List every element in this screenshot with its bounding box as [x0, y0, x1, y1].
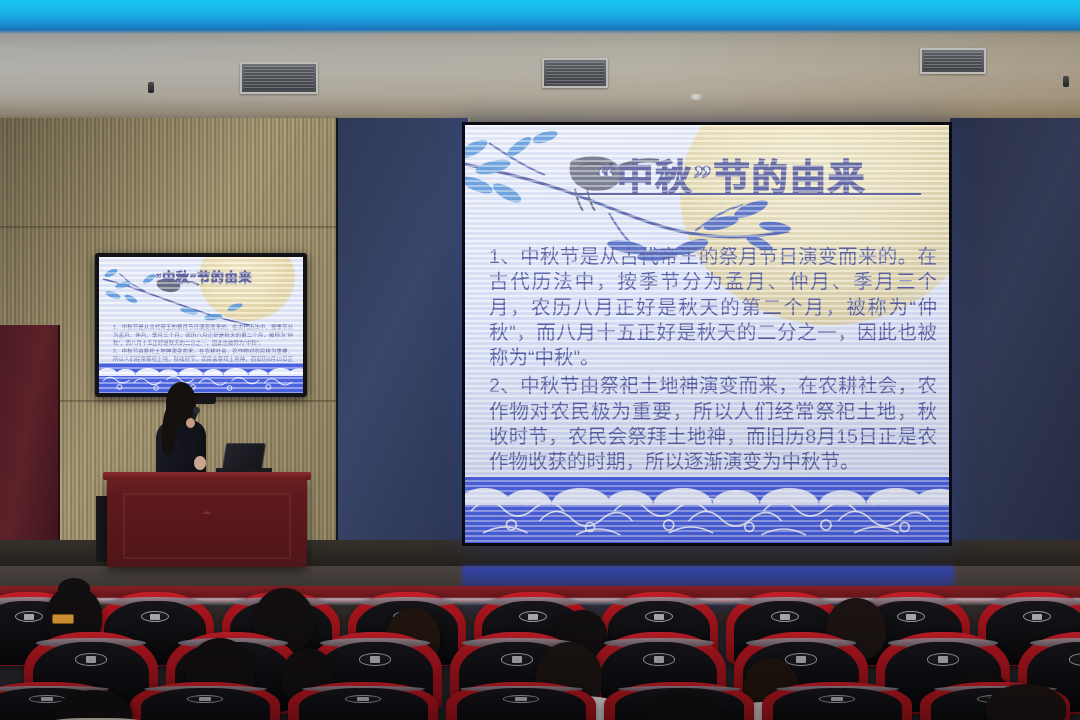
ceiling-spotlight [1063, 76, 1069, 87]
monitor-slide: “中秋”节的由来 1、中秋节是从古代帝王的祭月节日演变而来的。在古代历法中，按季… [99, 257, 303, 393]
presenter-hand [186, 418, 195, 428]
slide-paragraph: 2、中秋节由祭祀土地神演变而来，在农耕社会，农作物对农民极为重要，所以人们经常祭… [489, 374, 937, 475]
ceiling-spotlight [148, 82, 154, 93]
ceiling-vent [240, 62, 318, 94]
podium [107, 477, 307, 567]
audience-hair-bun [58, 578, 90, 600]
hair-clip [52, 614, 74, 624]
monitor-paragraph: 1、中秋节是从古代帝王的祭月节日演变而来的。在古代历法中，按季节分为孟月、仲月、… [113, 325, 293, 348]
slide-body: 1、中秋节是从古代帝王的祭月节日演变而来的。在古代历法中，按季节分为孟月、仲月、… [489, 245, 937, 479]
stage-curtain [0, 325, 60, 570]
auditorium-scene: “中秋”节的由来 1、中秋节是从古代帝王的祭月节日演变而来的。在古代历法中，按季… [0, 0, 1080, 720]
ceiling-light-tint [0, 30, 1080, 126]
navy-wall-panel-right [950, 118, 1080, 570]
seat[interactable] [130, 682, 280, 720]
presentation-slide: “中秋”节的由来 1、中秋节是从古代帝王的祭月节日演变而来的。在古代历法中，按季… [465, 125, 949, 543]
slide-paragraph: 1、中秋节是从古代帝王的祭月节日演变而来的。在古代历法中，按季节分为孟月、仲月、… [489, 245, 937, 372]
monitor-slide-title: “中秋”节的由来 [155, 267, 252, 286]
seat[interactable] [762, 682, 912, 720]
confidence-monitor[interactable]: “中秋”节的由来 1、中秋节是从古代帝王的祭月节日演变而来的。在古代历法中，按季… [95, 253, 307, 397]
presenter [150, 382, 214, 482]
led-screen[interactable]: “中秋”节的由来 1、中秋节是从古代帝王的祭月节日演变而来的。在古代历法中，按季… [462, 122, 952, 546]
laptop-screen[interactable] [222, 443, 266, 470]
ceiling-vent [920, 48, 986, 74]
navy-wall-panel [336, 118, 468, 570]
seat[interactable] [288, 682, 438, 720]
title-underline [577, 193, 921, 195]
smoke-detector-icon [690, 94, 704, 100]
ceiling-vent [542, 58, 608, 88]
seat[interactable] [446, 682, 596, 720]
audience-area [0, 586, 1080, 720]
presenter-hand [194, 456, 206, 470]
wave-pattern [465, 477, 949, 543]
ceiling [0, 0, 1080, 126]
